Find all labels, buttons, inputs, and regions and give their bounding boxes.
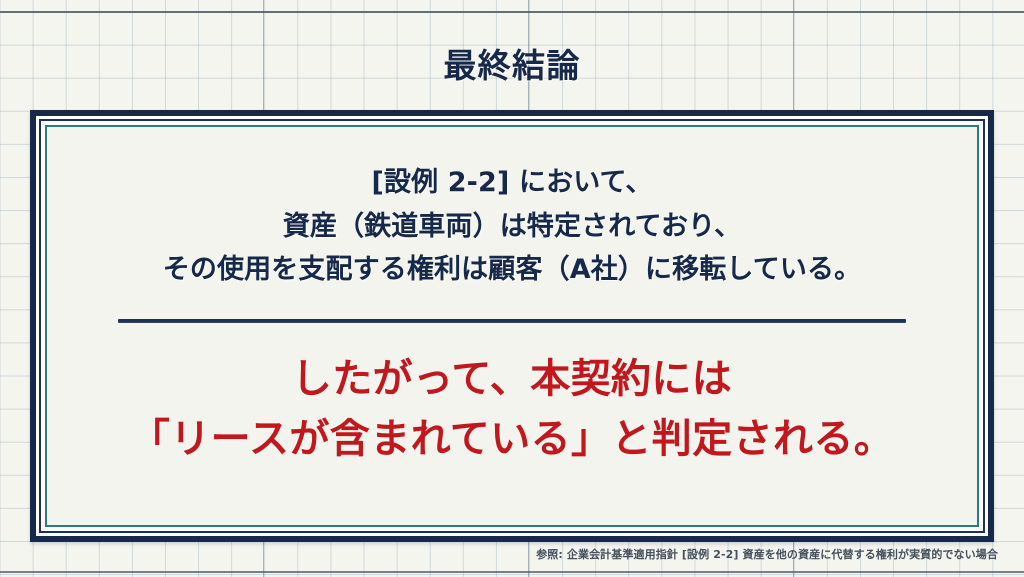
premise-line-3: その使用を支配する権利は顧客（A社）に移転している。 xyxy=(163,248,862,292)
grid-rule-top xyxy=(0,11,1024,13)
premise-text-block: [設例 2-2] において、 資産（鉄道車両）は特定されており、 その使用を支配… xyxy=(163,161,862,292)
conclusion-line-1: したがって、本契約には xyxy=(130,349,894,409)
page-title: 最終結論 xyxy=(0,39,1024,87)
slide-root: 最終結論 [設例 2-2] において、 資産（鉄道車両）は特定されており、 その… xyxy=(0,0,1024,577)
premise-line-2: 資産（鉄道車両）は特定されており、 xyxy=(163,205,862,249)
premise-line-1: [設例 2-2] において、 xyxy=(163,161,862,205)
grid-rule-bottom xyxy=(0,571,1024,573)
source-footnote: 参照: 企業会計基準適用指針 [設例 2-2] 資産を他の資産に代替する権利が実… xyxy=(536,546,998,562)
section-divider xyxy=(118,319,906,323)
conclusion-panel: [設例 2-2] において、 資産（鉄道車両）は特定されており、 その使用を支配… xyxy=(30,110,994,542)
panel-border-inner: [設例 2-2] において、 資産（鉄道車両）は特定されており、 その使用を支配… xyxy=(45,125,979,527)
conclusion-line-2: 「リースが含まれている」と判定される。 xyxy=(130,409,894,469)
panel-border-middle: [設例 2-2] において、 資産（鉄道車両）は特定されており、 その使用を支配… xyxy=(39,119,985,533)
panel-content: [設例 2-2] において、 資産（鉄道車両）は特定されており、 その使用を支配… xyxy=(47,127,977,525)
conclusion-text-block: したがって、本契約には 「リースが含まれている」と判定される。 xyxy=(130,349,894,469)
